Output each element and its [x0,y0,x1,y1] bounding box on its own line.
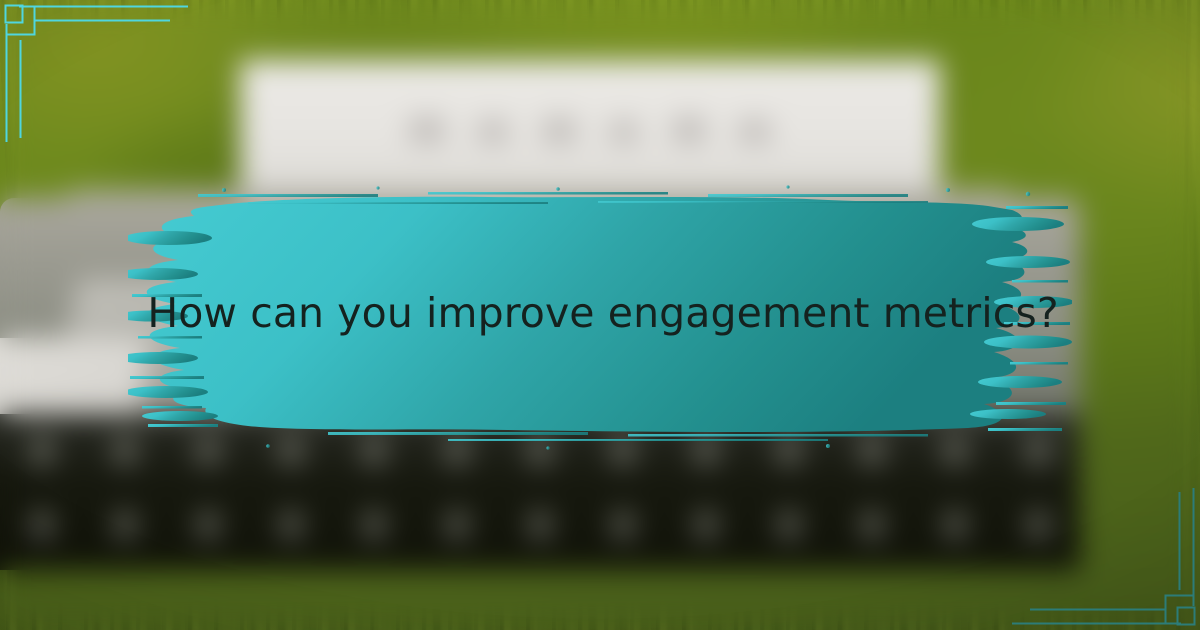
share-card: How can you improve engagement metrics? [0,0,1200,630]
teal-brush-banner [128,176,1072,456]
